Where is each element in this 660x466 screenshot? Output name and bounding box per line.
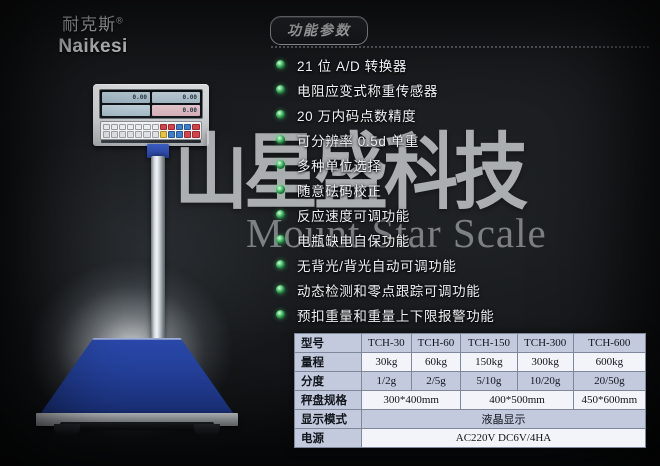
- key[interactable]: [135, 131, 142, 138]
- feature-label: 可分辨率 0.5d 单重: [297, 130, 419, 150]
- feature-item: 无背光/背光自动可调功能: [276, 252, 660, 277]
- lcd-right-column: 0.00 0.00: [152, 92, 200, 116]
- brand-logo: 耐克斯® Naikesi: [28, 16, 158, 56]
- table-cell: 400*500mm: [461, 391, 573, 410]
- feature-item: 动态检测和零点跟踪可调功能: [276, 277, 660, 302]
- product-photo: 0.00 0.00 0.00: [0, 70, 262, 466]
- section-badge: 功能参数: [270, 16, 368, 45]
- feature-label: 动态检测和零点跟踪可调功能: [297, 280, 480, 300]
- key[interactable]: [119, 124, 126, 131]
- bullet-icon: [276, 235, 285, 244]
- table-cell: 450*600mm: [573, 391, 645, 410]
- bullet-icon: [276, 260, 285, 269]
- feature-item: 可分辨率 0.5d 单重: [276, 127, 660, 152]
- table-cell: TCH-30: [362, 334, 412, 353]
- table-cell: 600kg: [573, 353, 645, 372]
- feature-label: 反应速度可调功能: [297, 205, 410, 225]
- key[interactable]: [176, 124, 183, 131]
- section-badge-wrap: 功能参数: [270, 16, 368, 45]
- table-row-label: 显示模式: [295, 410, 362, 429]
- feature-label: 预扣重量和重量上下限报警功能: [297, 305, 494, 325]
- key[interactable]: [176, 131, 183, 138]
- key[interactable]: [103, 131, 110, 138]
- table-row-label: 分度: [295, 372, 362, 391]
- feature-item: 随意砝码校正: [276, 177, 660, 202]
- platform-foot-bar: [60, 422, 214, 430]
- indicator-head: 0.00 0.00 0.00: [93, 84, 209, 146]
- table-row: 型号TCH-30TCH-60TCH-150TCH-300TCH-600: [295, 334, 646, 353]
- table-cell: 2/5g: [411, 372, 461, 391]
- feature-label: 随意砝码校正: [297, 180, 382, 200]
- dotted-divider: [270, 46, 650, 48]
- table-cell: 20/50g: [573, 372, 645, 391]
- bullet-icon: [276, 160, 285, 169]
- feature-list: 21 位 A/D 转换器电阻应变式称重传感器20 万内码点数精度可分辨率 0.5…: [276, 52, 660, 327]
- table-row: 秤盘规格300*400mm400*500mm450*600mm: [295, 391, 646, 410]
- lcd-readout-unit-price: [102, 105, 150, 116]
- key[interactable]: [184, 131, 191, 138]
- key[interactable]: [152, 131, 159, 138]
- spec-panel: 功能参数 山星盛科技 Mount Star Scale 21 位 A/D 转换器…: [262, 0, 660, 466]
- feature-label: 电瓶缺电自保功能: [297, 230, 410, 250]
- table-row-label: 量程: [295, 353, 362, 372]
- keypad-row-top: [103, 124, 200, 131]
- feature-label: 20 万内码点数精度: [297, 105, 416, 125]
- brand-name-en: Naikesi: [28, 37, 158, 56]
- table-cell: AC220V DC6V/4HA: [362, 429, 646, 448]
- key[interactable]: [135, 124, 142, 131]
- table-row: 量程30kg60kg150kg300kg600kg: [295, 353, 646, 372]
- bullet-icon: [276, 110, 285, 119]
- key[interactable]: [192, 131, 199, 138]
- feature-item: 21 位 A/D 转换器: [276, 52, 660, 77]
- table-row-label: 型号: [295, 334, 362, 353]
- table-row: 电源AC220V DC6V/4HA: [295, 429, 646, 448]
- table-cell: 300*400mm: [362, 391, 461, 410]
- keypad-row-bottom: [103, 131, 200, 138]
- key[interactable]: [160, 124, 167, 131]
- lcd-left-column: 0.00: [102, 92, 150, 116]
- key[interactable]: [111, 131, 118, 138]
- key[interactable]: [192, 124, 199, 131]
- key[interactable]: [160, 131, 167, 138]
- bullet-icon: [276, 185, 285, 194]
- key[interactable]: [127, 131, 134, 138]
- table-row-label: 秤盘规格: [295, 391, 362, 410]
- key[interactable]: [119, 131, 126, 138]
- bullet-icon: [276, 310, 285, 319]
- key[interactable]: [103, 124, 110, 131]
- table-row: 显示模式液晶显示: [295, 410, 646, 429]
- table-cell: TCH-600: [573, 334, 645, 353]
- key[interactable]: [168, 124, 175, 131]
- product-spec-image: 耐克斯® Naikesi 0.00 0.00 0.00: [0, 0, 660, 466]
- bullet-icon: [276, 135, 285, 144]
- table-cell: 30kg: [362, 353, 412, 372]
- table-cell: 300kg: [517, 353, 573, 372]
- feature-label: 多种单位选择: [297, 155, 382, 175]
- specification-table: 型号TCH-30TCH-60TCH-150TCH-300TCH-600量程30k…: [294, 333, 646, 448]
- table-cell: 1/2g: [362, 372, 412, 391]
- weighing-platform: [38, 338, 236, 430]
- feature-label: 电阻应变式称重传感器: [297, 80, 438, 100]
- table-cell: 60kg: [411, 353, 461, 372]
- feature-item: 多种单位选择: [276, 152, 660, 177]
- table-cell: TCH-150: [461, 334, 517, 353]
- feature-item: 反应速度可调功能: [276, 202, 660, 227]
- lcd-readout-tare: 0.00: [152, 105, 200, 116]
- feature-item: 预扣重量和重量上下限报警功能: [276, 302, 660, 327]
- key[interactable]: [143, 131, 150, 138]
- table-row: 分度1/2g2/5g5/10g10/20g20/50g: [295, 372, 646, 391]
- table-cell: 5/10g: [461, 372, 517, 391]
- platform-foot-right: [194, 424, 220, 436]
- key[interactable]: [143, 124, 150, 131]
- lcd-bezel-strip: [101, 140, 201, 143]
- key[interactable]: [111, 124, 118, 131]
- lcd-display: 0.00 0.00 0.00: [99, 89, 203, 119]
- keypad[interactable]: [100, 121, 202, 140]
- feature-label: 21 位 A/D 转换器: [297, 55, 407, 75]
- feature-item: 20 万内码点数精度: [276, 102, 660, 127]
- support-column: [151, 156, 165, 346]
- lcd-readout-total: 0.00: [152, 92, 200, 103]
- bullet-icon: [276, 285, 285, 294]
- key[interactable]: [152, 124, 159, 131]
- bullet-icon: [276, 210, 285, 219]
- table-row-label: 电源: [295, 429, 362, 448]
- feature-label: 无背光/背光自动可调功能: [297, 255, 456, 275]
- trademark-symbol: ®: [116, 15, 124, 25]
- table-cell: TCH-60: [411, 334, 461, 353]
- feature-item: 电阻应变式称重传感器: [276, 77, 660, 102]
- platform-foot-left: [54, 424, 80, 436]
- table-cell: TCH-300: [517, 334, 573, 353]
- table-cell: 10/20g: [517, 372, 573, 391]
- brand-name-cn: 耐克斯®: [28, 16, 158, 33]
- key[interactable]: [184, 124, 191, 131]
- lcd-readout-weight: 0.00: [102, 92, 150, 103]
- table-cell: 150kg: [461, 353, 517, 372]
- key[interactable]: [127, 124, 134, 131]
- table-cell: 液晶显示: [362, 410, 646, 429]
- bullet-icon: [276, 60, 285, 69]
- feature-item: 电瓶缺电自保功能: [276, 227, 660, 252]
- bullet-icon: [276, 85, 285, 94]
- key[interactable]: [168, 131, 175, 138]
